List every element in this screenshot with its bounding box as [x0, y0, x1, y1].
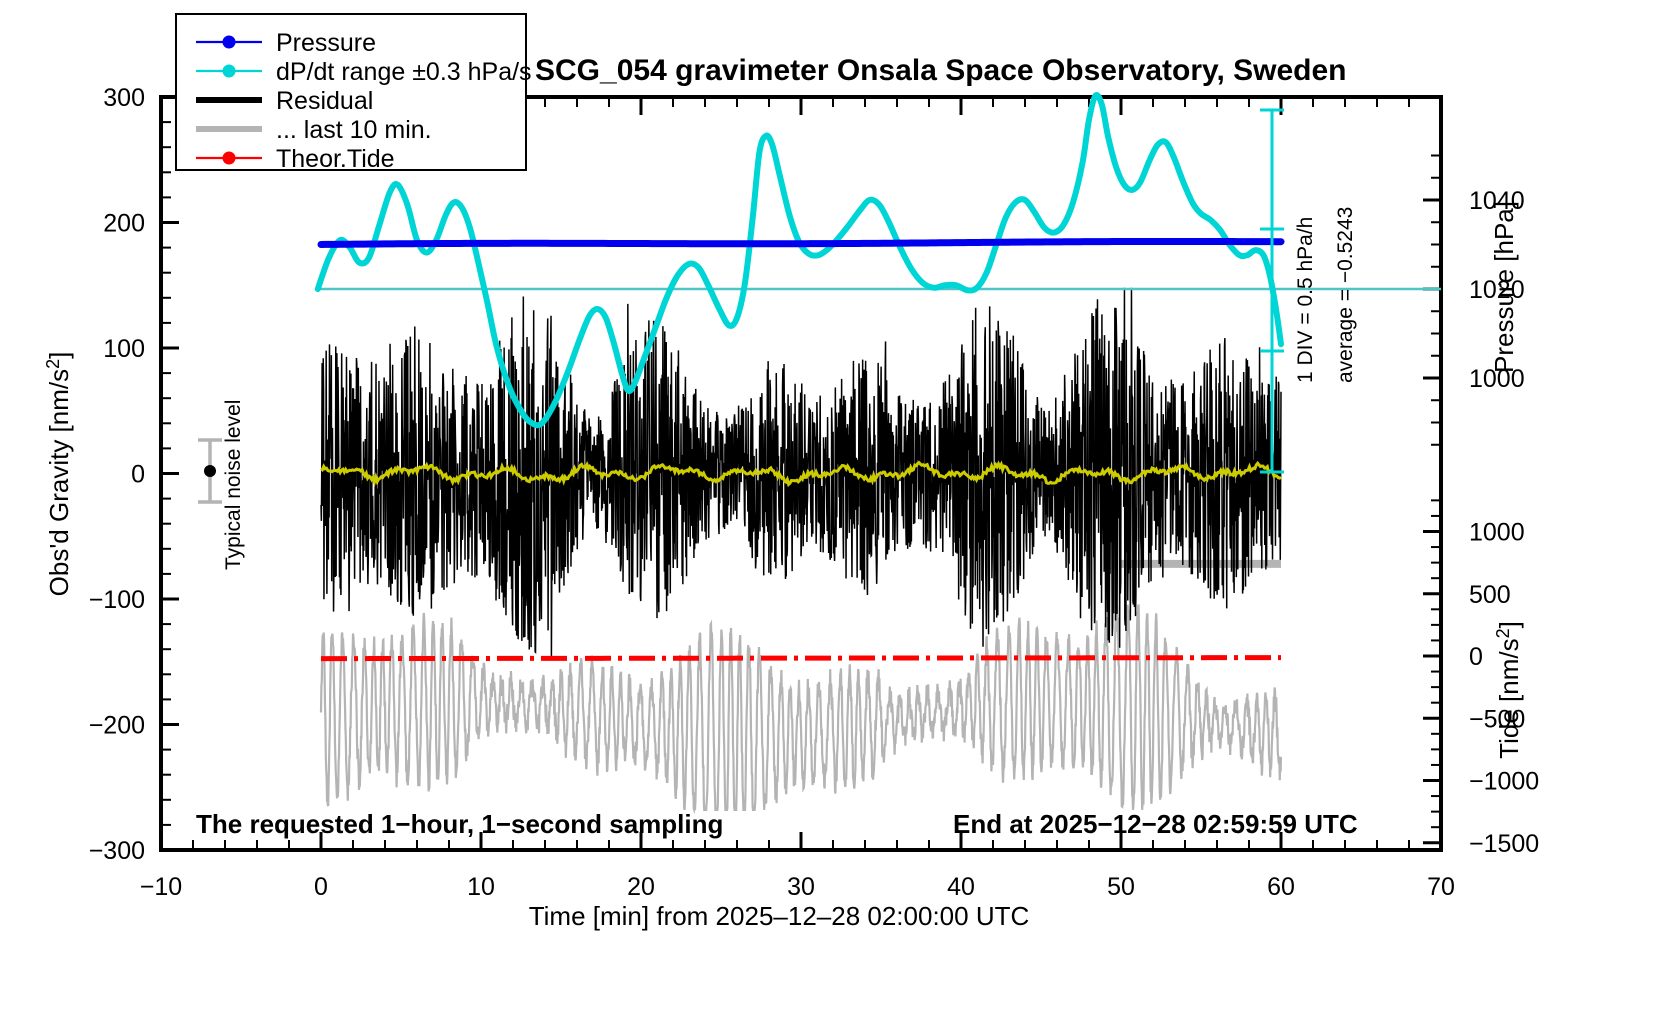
tide-tick-label: −1000: [1469, 768, 1539, 796]
x-tick-label: −10: [140, 873, 182, 901]
legend-label: Residual: [276, 87, 373, 115]
scalebar-label-div: 1 DIV = 0.5 hPa/h: [1294, 217, 1317, 383]
scalebar-label-average: average = −0.5243: [1334, 207, 1357, 383]
y-tick-label: 300: [103, 84, 145, 112]
y-tick-label: −300: [89, 837, 145, 865]
page-title: SCG_054 gravimeter Onsala Space Observat…: [535, 54, 1347, 87]
gravimeter-plot: −10010203040506070 3002001000−100−200−30…: [0, 0, 1676, 1020]
y-axis-left-title: Obs'd Gravity [nm/s2]: [43, 352, 74, 597]
legend-label: dP/dt range ±0.3 hPa/s: [276, 58, 532, 86]
x-tick-label: 10: [467, 873, 495, 901]
tide-tick-label: −1500: [1469, 830, 1539, 858]
footer-note-left: The requested 1−hour, 1−second sampling: [196, 809, 723, 839]
x-tick-label: 0: [314, 873, 328, 901]
series-pressure: [321, 241, 1281, 244]
legend[interactable]: PressuredP/dt range ±0.3 hPa/sResidual..…: [176, 14, 532, 173]
x-tick-label: 30: [787, 873, 815, 901]
y-tick-label: 0: [131, 461, 145, 489]
typical-noise-level-label: Typical noise level: [222, 400, 245, 570]
legend-marker-dot: [223, 36, 236, 49]
x-tick-label: 50: [1107, 873, 1135, 901]
legend-marker-dot: [223, 152, 236, 165]
y-tick-label: 100: [103, 335, 145, 363]
x-axis-title: Time [min] from 2025–12–28 02:00:00 UTC: [529, 901, 1030, 931]
x-tick-label: 60: [1267, 873, 1295, 901]
footer-note-right: End at 2025−12−28 02:59:59 UTC: [953, 809, 1358, 839]
y-axis-tide-title: Tide [nm/s2]: [1493, 621, 1524, 759]
x-tick-label: 40: [947, 873, 975, 901]
y-tick-label: 200: [103, 210, 145, 238]
legend-marker-dot: [223, 65, 236, 78]
y-axis-pressure-title: Pressure [hPa]: [1489, 201, 1519, 373]
chart-canvas: −10010203040506070 3002001000−100−200−30…: [0, 0, 1676, 1020]
tide-tick-label: 500: [1469, 581, 1511, 609]
legend-label: Pressure: [276, 29, 376, 57]
legend-label: ... last 10 min.: [276, 116, 432, 144]
y-tick-label: −200: [89, 712, 145, 740]
legend-label: Theor.Tide: [276, 145, 395, 173]
x-tick-label: 20: [627, 873, 655, 901]
y-tick-label: −100: [89, 586, 145, 614]
tide-tick-label: 1000: [1469, 519, 1525, 547]
x-tick-label: 70: [1427, 873, 1455, 901]
tide-tick-label: 0: [1469, 643, 1483, 671]
